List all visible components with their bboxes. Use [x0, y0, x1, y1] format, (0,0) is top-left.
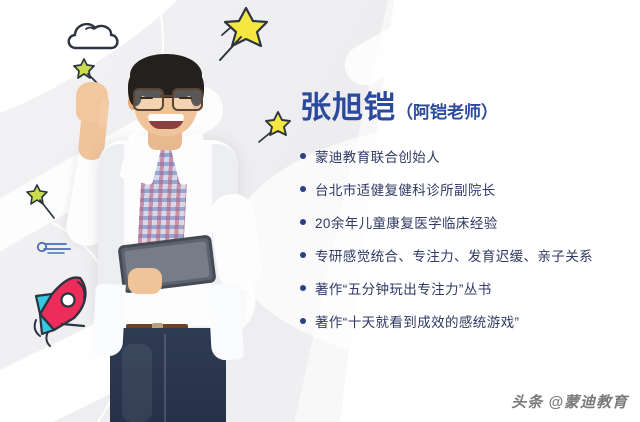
text-content: 张旭铠（阿铠老师） 蒙迪教育联合创始人 台北市适健复健科诊所副院长 20余年儿童…: [300, 92, 630, 344]
lens-left: [133, 88, 164, 111]
bullet-dot-icon: [300, 153, 306, 159]
jeans-seam: [164, 334, 166, 422]
index-finger: [98, 98, 109, 129]
credentials-list: 蒙迪教育联合创始人 台北市适健复健科诊所副院长 20余年儿童康复医学临床经验 专…: [300, 146, 630, 331]
credential-text: 台北市适健复健科诊所副院长: [315, 179, 496, 199]
eye-right: [179, 97, 192, 99]
instructor-nickname: （阿铠老师）: [396, 103, 498, 122]
bullet-dot-icon: [300, 285, 306, 291]
watermark: 头条 @蒙迪教育: [511, 391, 628, 412]
list-item: 著作“五分钟玩出专注力”丛书: [300, 278, 630, 298]
teeth: [148, 114, 184, 121]
pointing-hand: [76, 82, 108, 122]
eyeglasses-icon: [132, 88, 200, 108]
bullet-dot-icon: [300, 252, 306, 258]
credential-text: 20余年儿童康复医学临床经验: [315, 212, 498, 232]
instructor-name-title: 张旭铠（阿铠老师）: [300, 92, 630, 123]
list-item: 20余年儿童康复医学临床经验: [300, 212, 630, 232]
bullet-dot-icon: [300, 219, 306, 225]
credential-text: 著作“十天就看到成效的感统游戏”: [315, 311, 519, 331]
smiling-mouth: [148, 114, 184, 129]
bullet-dot-icon: [300, 186, 306, 192]
holding-hand: [128, 268, 162, 294]
jeans-highlight: [122, 344, 152, 422]
list-item: 专研感觉统合、专注力、发育迟缓、亲子关系: [300, 245, 630, 265]
list-item: 著作“十天就看到成效的感统游戏”: [300, 311, 630, 331]
instructor-name: 张旭铠: [300, 90, 396, 125]
poster-container: 张旭铠（阿铠老师） 蒙迪教育联合创始人 台北市适健复健科诊所副院长 20余年儿童…: [0, 0, 640, 422]
magic-wand-star-icon-left: [26, 182, 60, 227]
list-item: 蒙迪教育联合创始人: [300, 146, 630, 166]
list-item: 台北市适健复健科诊所副院长: [300, 179, 630, 199]
lens-right: [172, 88, 203, 111]
glasses-bridge: [160, 95, 172, 97]
credential-text: 蒙迪教育联合创始人: [315, 146, 440, 166]
coat-tail-left: [92, 283, 126, 356]
coat-tail-right: [208, 283, 244, 361]
instructor-photo: [64, 44, 274, 422]
bullet-dot-icon: [300, 318, 306, 324]
credential-text: 著作“五分钟玩出专注力”丛书: [315, 278, 492, 298]
credential-text: 专研感觉统合、专注力、发育迟缓、亲子关系: [315, 245, 593, 265]
eye-left: [140, 97, 153, 99]
